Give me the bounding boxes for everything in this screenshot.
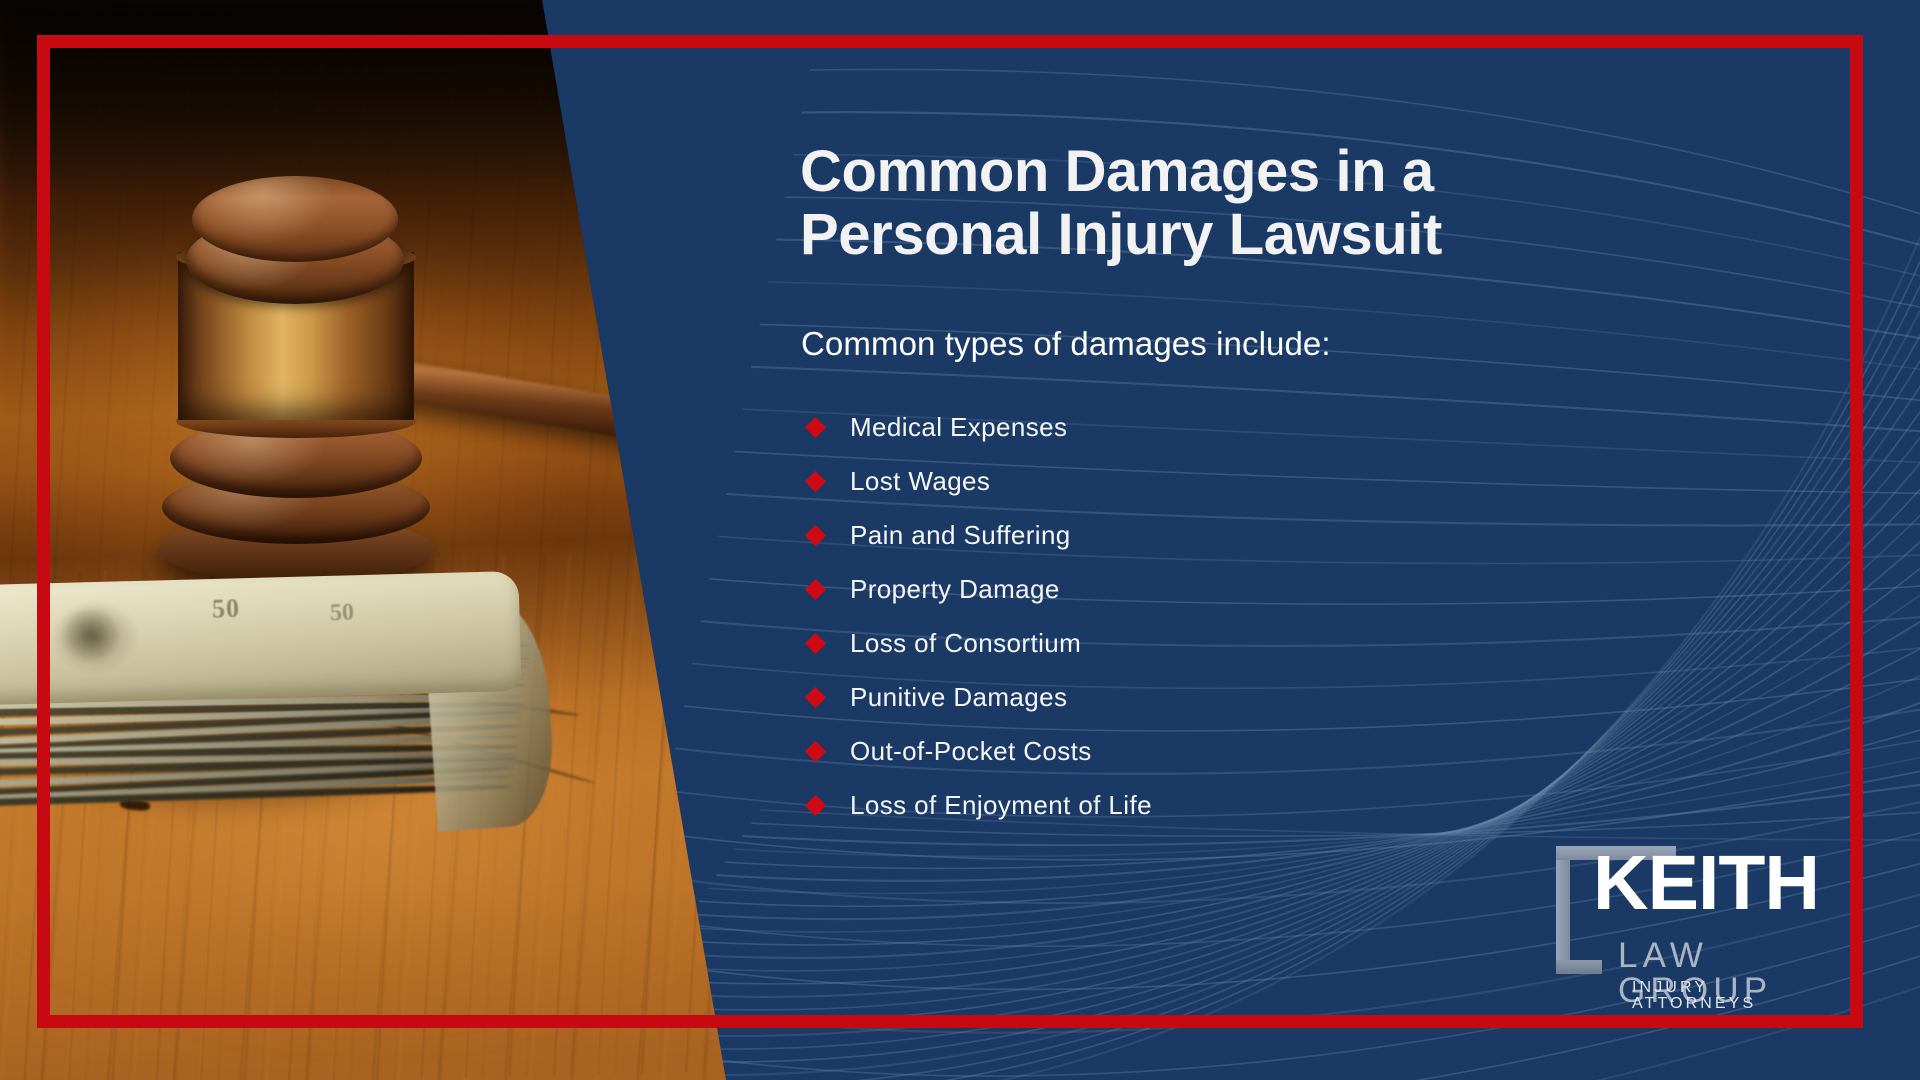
gavel-handle-end (638, 363, 703, 406)
list-item-label: Out-of-Pocket Costs (850, 736, 1092, 767)
list-item: Loss of Consortium (800, 616, 1152, 670)
list-item-label: Punitive Damages (850, 682, 1067, 713)
diamond-bullet-icon (805, 524, 826, 545)
diamond-bullet-icon (805, 794, 826, 815)
list-item-label: Property Damage (850, 574, 1060, 605)
list-item-label: Loss of Enjoyment of Life (850, 790, 1152, 821)
diamond-bullet-icon (805, 416, 826, 437)
banknote-denomination: 50 (211, 594, 240, 625)
list-item-label: Loss of Consortium (850, 628, 1081, 659)
diamond-bullet-icon (805, 578, 826, 599)
page-title: Common Damages in a Personal Injury Laws… (800, 140, 1630, 266)
list-item: Out-of-Pocket Costs (800, 724, 1152, 778)
banknote-denomination-secondary: 50 (330, 600, 355, 628)
logo-tagline: INJURY ATTORNEYS (1632, 980, 1828, 1012)
gavel-and-cash-photo: 50 50 (0, 0, 760, 1080)
page-title-line-2: Personal Injury Lawsuit (800, 202, 1442, 267)
list-item: Medical Expenses (800, 400, 1152, 454)
list-item: Pain and Suffering (800, 508, 1152, 562)
page-title-line-1: Common Damages in a (800, 139, 1434, 204)
list-item: Lost Wages (800, 454, 1152, 508)
list-item-label: Pain and Suffering (850, 520, 1071, 551)
bracket-vertical-bar (1556, 846, 1570, 974)
list-item: Loss of Enjoyment of Life (800, 778, 1152, 832)
infographic-canvas: 50 50 Common Damages in a Personal Injur… (0, 0, 1920, 1080)
stack-of-cash-icon: 50 50 (0, 0, 760, 1080)
list-item: Property Damage (800, 562, 1152, 616)
logo-name: KEITH (1593, 845, 1819, 922)
diamond-bullet-icon (805, 686, 826, 707)
diamond-bullet-icon (805, 470, 826, 491)
subtitle: Common types of damages include: (801, 325, 1331, 363)
list-item-label: Medical Expenses (850, 412, 1067, 443)
list-item-label: Lost Wages (850, 466, 990, 497)
banknote-portrait-face (58, 608, 128, 670)
diamond-bullet-icon (805, 632, 826, 653)
keith-law-group-logo[interactable]: KEITH LAW GROUP INJURY ATTORNEYS (1556, 838, 1828, 1000)
diamond-bullet-icon (805, 740, 826, 761)
bracket-bottom-bar (1556, 960, 1602, 974)
list-item: Punitive Damages (800, 670, 1152, 724)
damages-list: Medical ExpensesLost WagesPain and Suffe… (800, 400, 1152, 832)
